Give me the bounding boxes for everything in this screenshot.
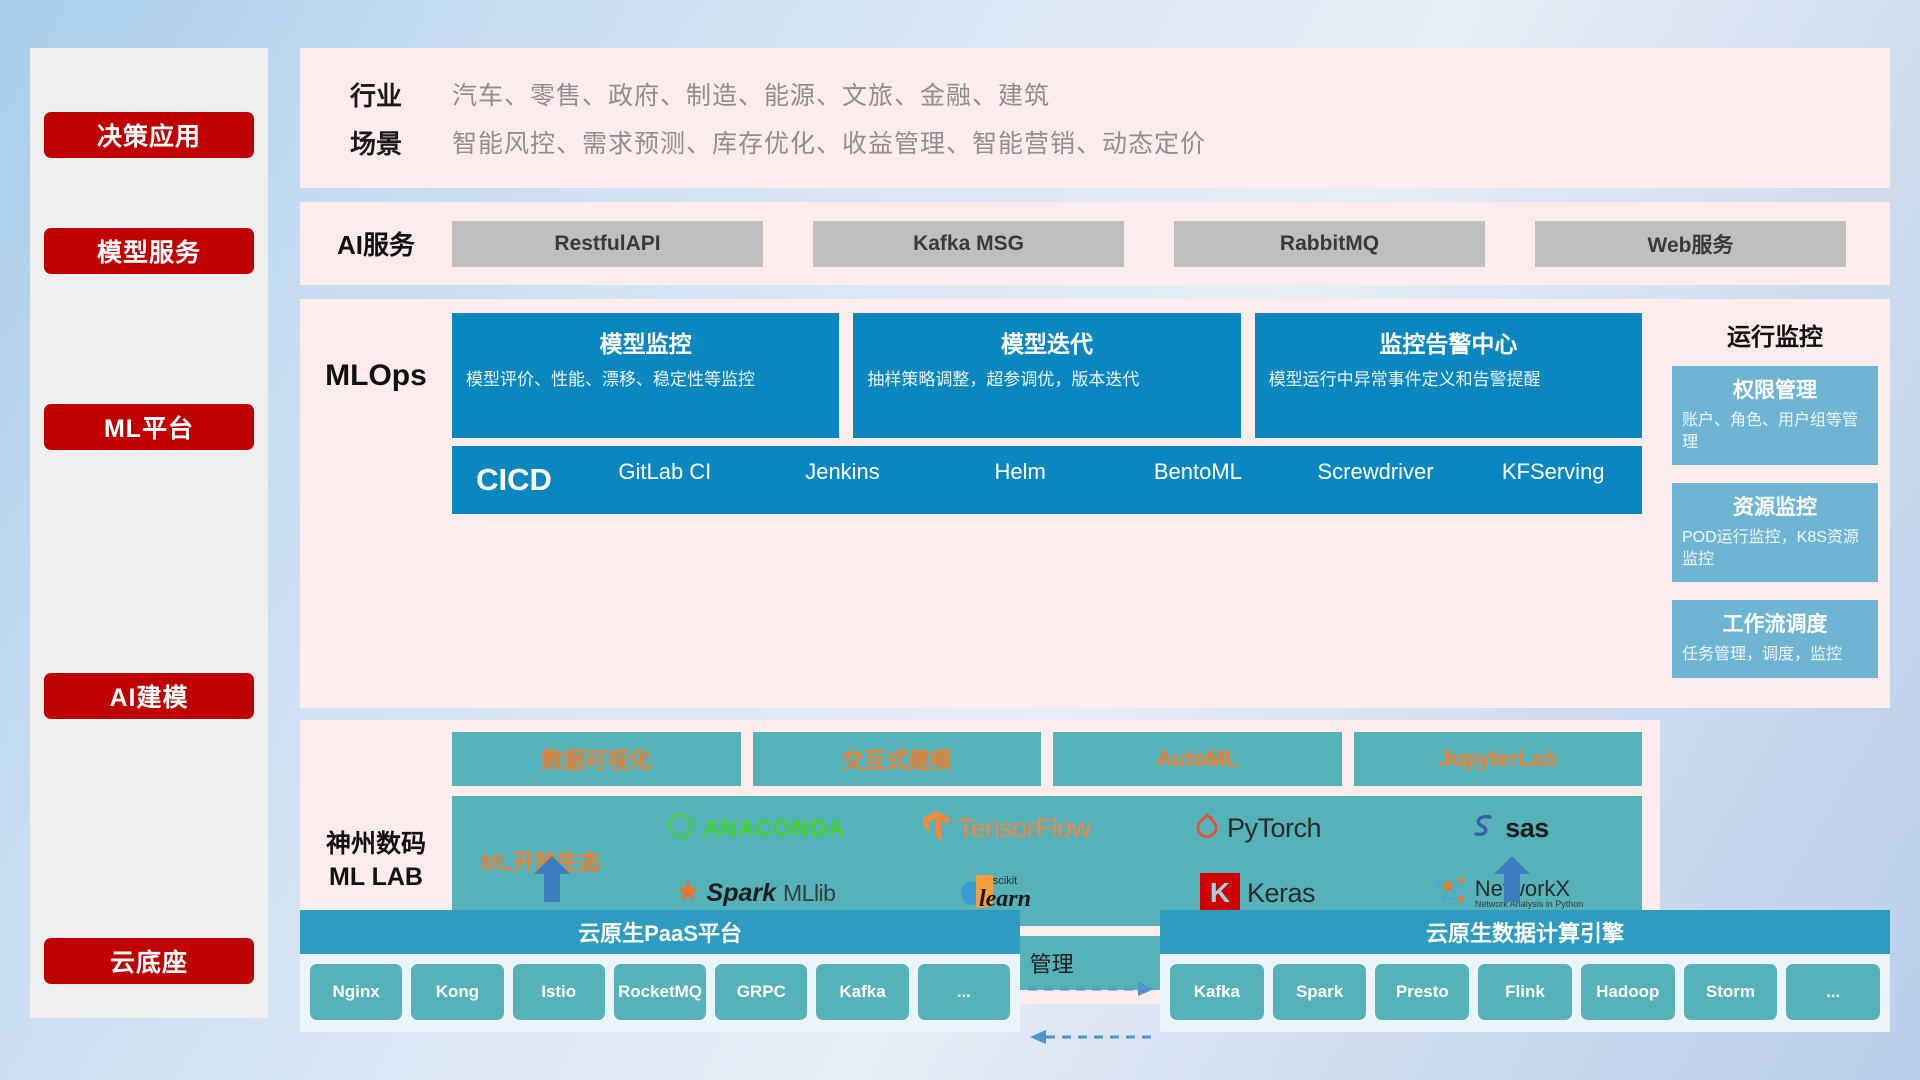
mlops-card-model-iteration[interactable]: 模型迭代 抽样策略调整，超参调优，版本迭代 [853,313,1240,438]
cicd-item-jenkins[interactable]: Jenkins [754,460,932,483]
cloud-paas-title: 云原生PaaS平台 [300,910,1020,954]
rail-badge-model-service[interactable]: 模型服务 [44,228,254,274]
rail-badge-label: 云底座 [110,943,188,979]
cloud-chip-kong[interactable]: Kong [411,964,503,1020]
run-monitor-title: 运行监控 [1672,309,1878,366]
decision-apps-band: 行业 汽车、零售、政府、制造、能源、文旅、金融、建筑 场景 智能风控、需求预测、… [300,48,1890,188]
sas-logo: sas [1468,811,1549,846]
ai-services-key: AI服务 [300,225,452,262]
mlops-cards-row: MLOps 模型监控 模型评价、性能、漂移、稳定性等监控 模型迭代 抽样策略调整… [300,313,1642,438]
rail-badge-ai-modeling[interactable]: AI建模 [44,673,254,719]
rail-badge-cloud-foundation[interactable]: 云底座 [44,938,254,984]
card-desc: 模型运行中异常事件定义和告警提醒 [1269,369,1628,392]
ml-lab-key: 神州数码 ML LAB [300,828,452,893]
industry-value: 汽车、零售、政府、制造、能源、文旅、金融、建筑 [452,76,1050,112]
rail-badge-ml-platform[interactable]: ML平台 [44,404,254,450]
ai-service-restfulapi[interactable]: RestfulAPI [452,221,763,267]
card-desc: 任务管理，调度，监控 [1682,644,1868,666]
rail-badge-label: AI建模 [109,678,188,714]
up-arrow-compute-icon [1492,856,1532,902]
cloud-chip-grpc[interactable]: GRPC [715,964,807,1020]
cicd-item-screwdriver[interactable]: Screwdriver [1287,460,1465,483]
cloud-paas-chips: Nginx Kong Istio RocketMQ GRPC Kafka ... [300,954,1020,1032]
tool-automl[interactable]: AutoML [1053,732,1342,786]
ml-lab-key-line1: 神州数码 [300,828,452,861]
pytorch-flame-icon [1194,811,1220,846]
industry-key: 行业 [300,76,452,113]
card-desc: POD运行监控，K8S资源监控 [1682,527,1868,570]
cloud-chip-nginx[interactable]: Nginx [310,964,402,1020]
arrow-compute-to-paas-icon [1028,1028,1156,1051]
card-desc: 模型评价、性能、漂移、稳定性等监控 [466,369,825,392]
mlops-card-alert-center[interactable]: 监控告警中心 模型运行中异常事件定义和告警提醒 [1255,313,1642,438]
anaconda-logo: ANACONDA [666,811,845,846]
pytorch-logo: PyTorch [1194,811,1321,846]
sas-logo-text: sas [1505,813,1549,844]
cloud-chip-rocketmq[interactable]: RocketMQ [614,964,706,1020]
industry-row: 行业 汽车、零售、政府、制造、能源、文旅、金融、建筑 [300,70,1890,118]
cloud-paas-column: 云原生PaaS平台 Nginx Kong Istio RocketMQ GRPC… [300,910,1020,1032]
compute-chip-hadoop[interactable]: Hadoop [1581,964,1675,1020]
cloud-foundation-band: 云原生PaaS平台 Nginx Kong Istio RocketMQ GRPC… [300,888,1890,1058]
cloud-chip-kafka[interactable]: Kafka [816,964,908,1020]
card-desc: 抽样策略调整，超参调优，版本迭代 [867,369,1226,392]
compute-chip-more[interactable]: ... [1786,964,1880,1020]
mlops-key: MLOps [300,359,452,393]
ml-platform-band: MLOps 模型监控 模型评价、性能、漂移、稳定性等监控 模型迭代 抽样策略调整… [300,299,1890,708]
anaconda-logo-text: ANACONDA [703,815,845,842]
scenario-row: 场景 智能风控、需求预测、库存优化、收益管理、智能营销、动态定价 [300,118,1890,166]
cloud-chip-more[interactable]: ... [918,964,1010,1020]
mlops-cards: 模型监控 模型评价、性能、漂移、稳定性等监控 模型迭代 抽样策略调整，超参调优，… [452,313,1642,438]
rail-badge-decision-apps[interactable]: 决策应用 [44,112,254,158]
card-title: 资源监控 [1682,491,1868,521]
run-monitor-section: 运行监控 权限管理 账户、角色、用户组等管理 资源监控 POD运行监控，K8S资… [1660,299,1890,708]
compute-chip-flink[interactable]: Flink [1478,964,1572,1020]
tensorflow-logo-text: TensorFlow [957,813,1090,844]
anaconda-ring-icon [666,811,696,846]
tensorflow-mark-icon [922,810,950,847]
tool-interactive-modeling[interactable]: 交互式建模 [753,732,1042,786]
monitor-card-resources[interactable]: 资源监控 POD运行监控，K8S资源监控 [1672,483,1878,582]
cloud-compute-column: 云原生数据计算引擎 Kafka Spark Presto Flink Hadoo… [1160,910,1890,1032]
cicd-item-bentoml[interactable]: BentoML [1109,460,1287,483]
tensorflow-logo: TensorFlow [922,810,1090,847]
pytorch-logo-text: PyTorch [1227,813,1321,844]
ml-lab-tools: 数据可视化 交互式建模 AutoML JupyterLab [452,732,1642,786]
ai-service-web[interactable]: Web服务 [1535,221,1846,267]
ai-services-items: RestfulAPI Kafka MSG RabbitMQ Web服务 [452,221,1868,267]
mlops-section: MLOps 模型监控 模型评价、性能、漂移、稳定性等监控 模型迭代 抽样策略调整… [300,299,1660,708]
card-title: 权限管理 [1682,374,1868,404]
ai-service-kafka-msg[interactable]: Kafka MSG [813,221,1124,267]
card-title: 模型迭代 [867,325,1226,359]
tool-jupyterlab[interactable]: JupyterLab [1354,732,1643,786]
card-desc: 账户、角色、用户组等管理 [1682,410,1868,453]
sas-swirl-icon [1468,811,1498,846]
compute-chip-storm[interactable]: Storm [1684,964,1778,1020]
cloud-compute-chips: Kafka Spark Presto Flink Hadoop Storm ..… [1160,954,1890,1032]
compute-chip-presto[interactable]: Presto [1375,964,1469,1020]
cicd-item-helm[interactable]: Helm [931,460,1109,483]
scenario-key: 场景 [300,124,452,161]
ai-service-rabbitmq[interactable]: RabbitMQ [1174,221,1485,267]
mlops-card-model-monitoring[interactable]: 模型监控 模型评价、性能、漂移、稳定性等监控 [452,313,839,438]
scenario-value: 智能风控、需求预测、库存优化、收益管理、智能营销、动态定价 [452,124,1206,160]
card-title: 模型监控 [466,325,825,359]
up-arrow-paas-icon [532,856,572,902]
cloud-chip-istio[interactable]: Istio [513,964,605,1020]
cicd-item-gitlab-ci[interactable]: GitLab CI [576,460,754,483]
monitor-card-workflow[interactable]: 工作流调度 任务管理，调度，监控 [1672,600,1878,678]
card-title: 监控告警中心 [1269,325,1628,359]
cicd-row: CICD GitLab CI Jenkins Helm BentoML Scre… [452,446,1642,514]
tool-data-visualization[interactable]: 数据可视化 [452,732,741,786]
rail-badge-label: 决策应用 [97,117,201,153]
monitor-card-permissions[interactable]: 权限管理 账户、角色、用户组等管理 [1672,366,1878,465]
rail-badge-label: ML平台 [104,409,194,445]
arrow-paas-to-compute-icon [1028,980,1156,1003]
cicd-item-kfserving[interactable]: KFServing [1464,460,1642,483]
rail-badge-label: 模型服务 [97,233,201,269]
cicd-label: CICD [452,462,576,498]
left-rail: 决策应用 模型服务 ML平台 AI建模 云底座 [30,48,268,1018]
cloud-compute-title: 云原生数据计算引擎 [1160,910,1890,954]
compute-chip-spark[interactable]: Spark [1273,964,1367,1020]
card-title: 工作流调度 [1682,608,1868,638]
compute-chip-kafka[interactable]: Kafka [1170,964,1264,1020]
ai-services-band: AI服务 RestfulAPI Kafka MSG RabbitMQ Web服务 [300,202,1890,285]
